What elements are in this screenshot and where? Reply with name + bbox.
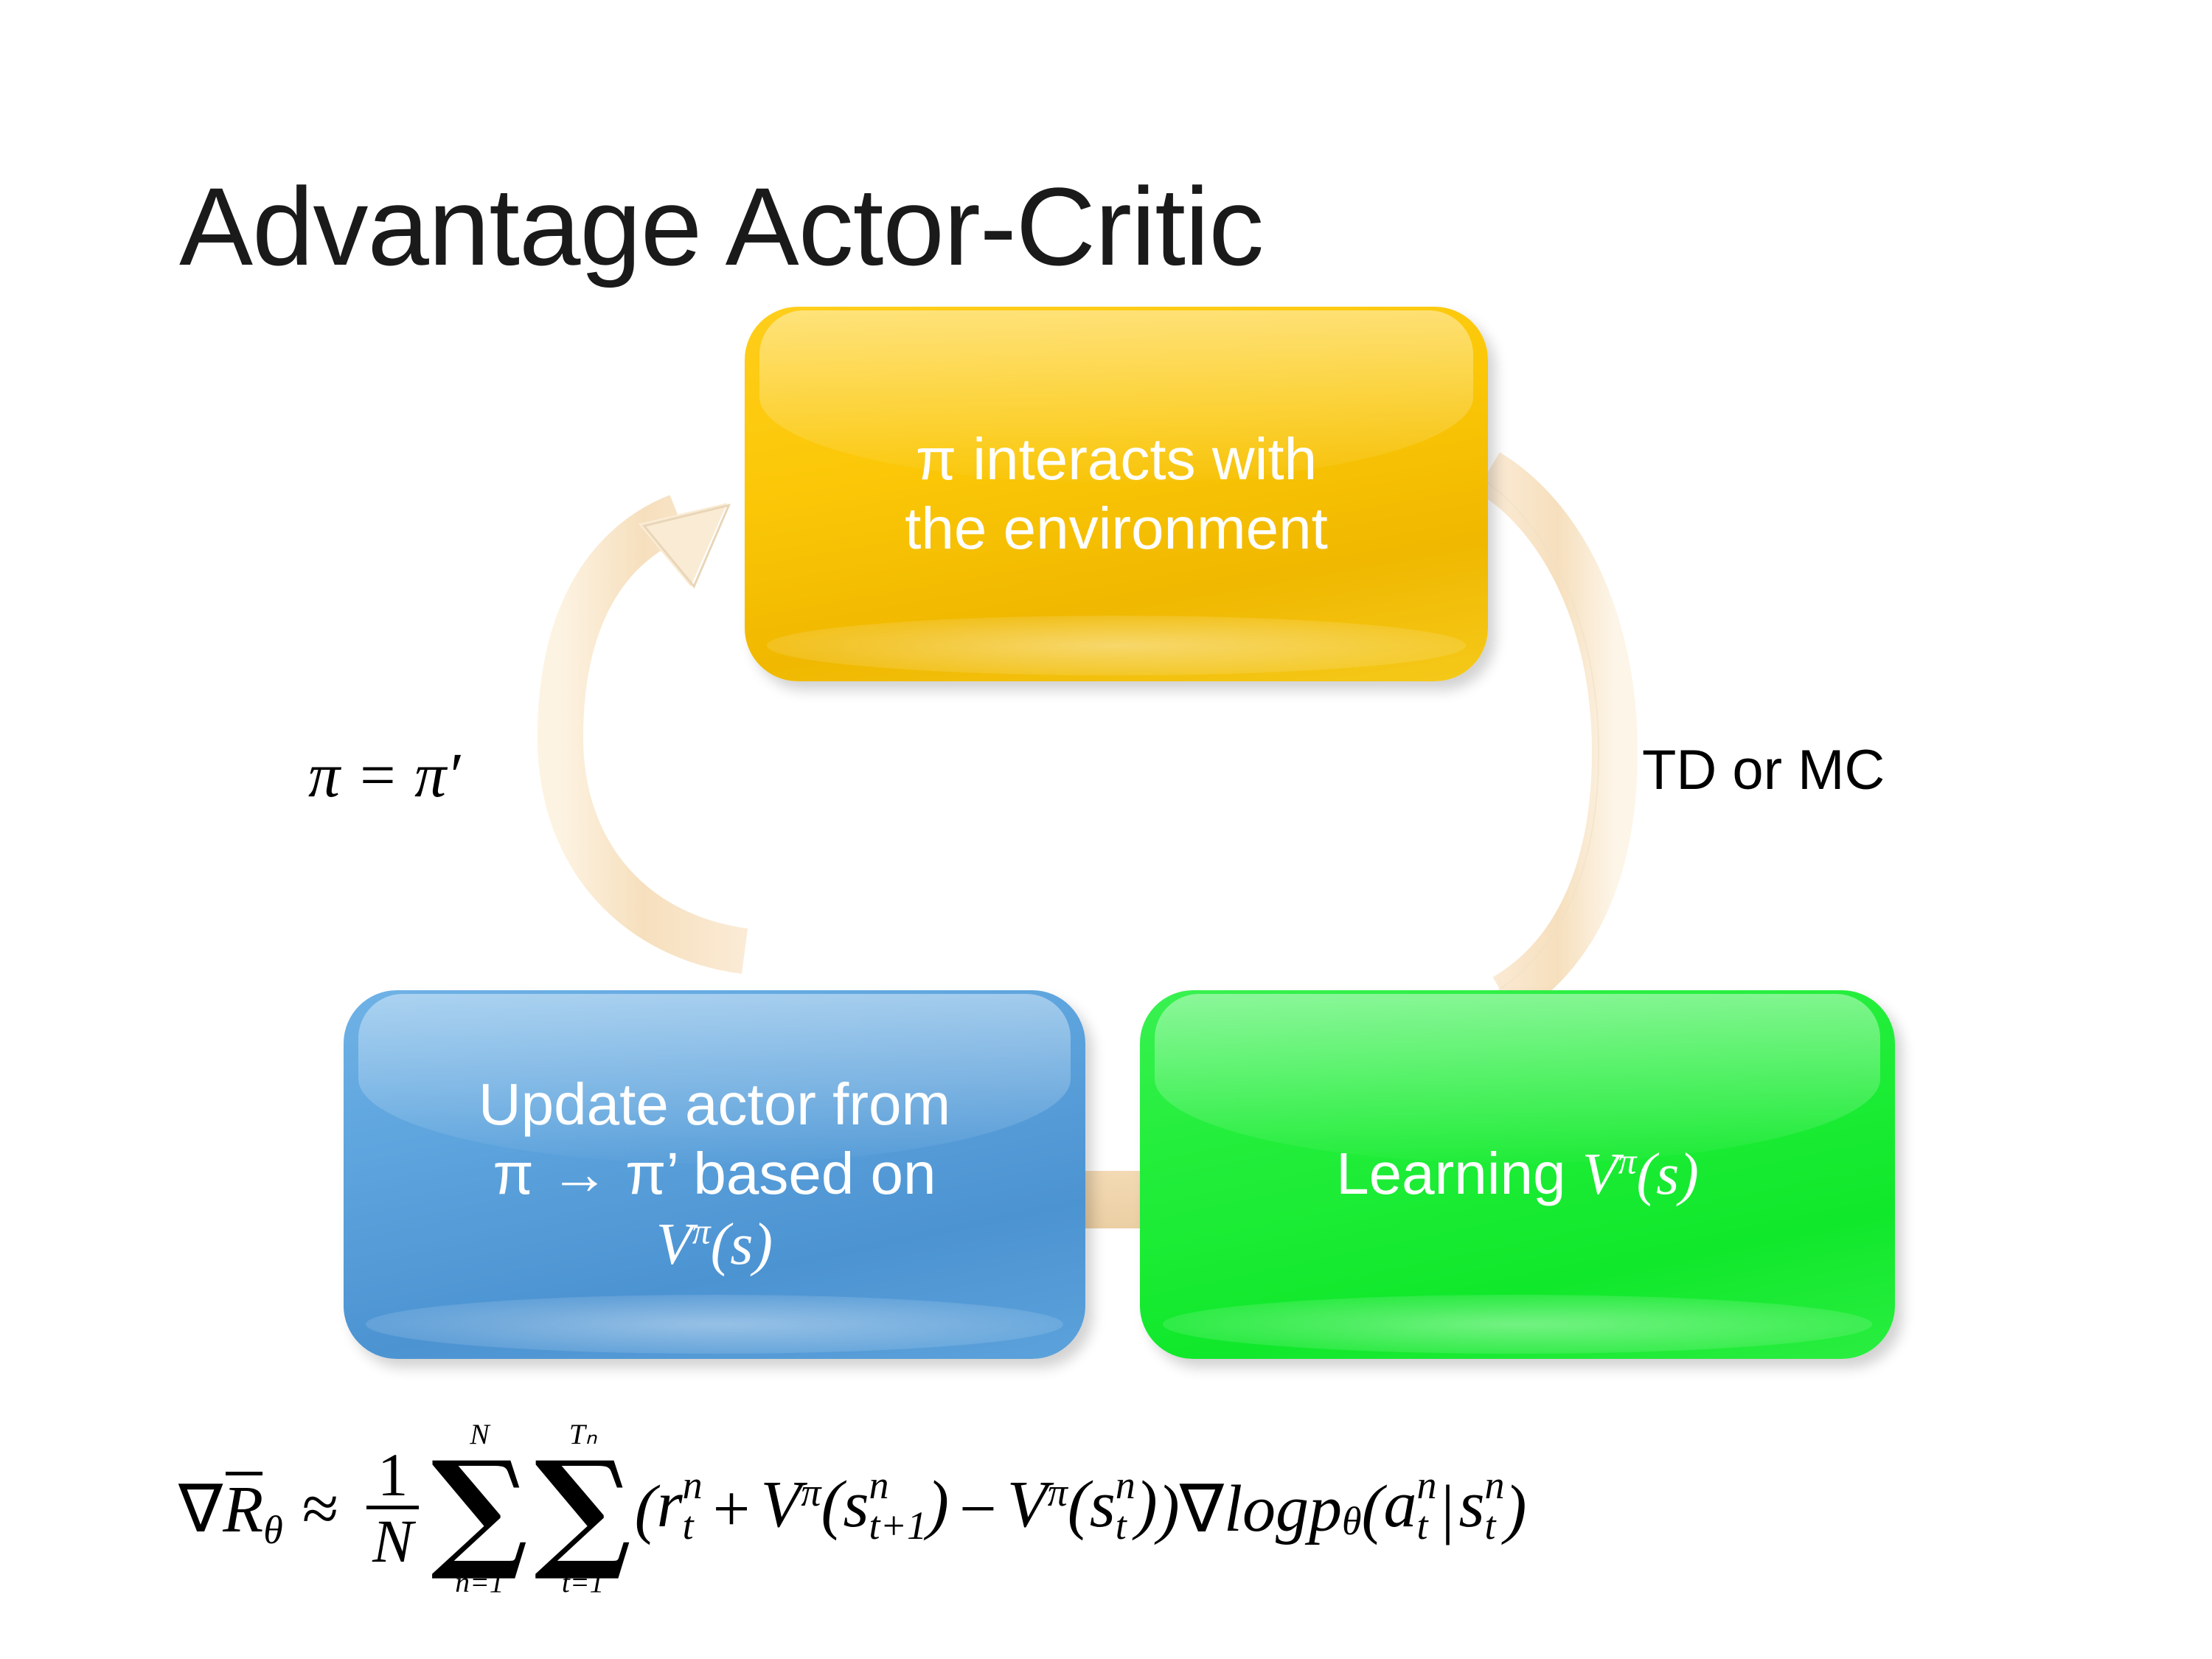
formula-lhs: ∇Rθ — [178, 1470, 283, 1548]
value-learning-arrow — [1472, 472, 1615, 997]
formula-close-paren: ) — [1158, 1471, 1180, 1547]
formula-v2-base: V — [1007, 1468, 1048, 1541]
formula-sum-over-timesteps: Tₙ ∑ t=1 — [535, 1420, 632, 1598]
formula-v2-close: ) — [1135, 1468, 1158, 1541]
formula-v1-state: s — [843, 1468, 869, 1541]
policy-gradient-formula: ∇Rθ ≈ 1 N N ∑ n=1 Tₙ ∑ t=1 ( r n t + Vπ(… — [178, 1420, 2066, 1598]
formula-cond-state-sup: n — [1485, 1465, 1505, 1506]
formula-v1-sup: π — [801, 1470, 821, 1514]
formula-action-term: a n t — [1383, 1467, 1436, 1551]
formula-minus: − — [959, 1471, 997, 1547]
formula-v2-sup: π — [1048, 1470, 1068, 1514]
formula-log: log — [1224, 1471, 1309, 1547]
critic-value-fn-base: V — [1582, 1142, 1618, 1207]
formula-action-indices: n t — [1416, 1465, 1436, 1546]
actor-line-1: Update actor from — [369, 1070, 1060, 1139]
formula-open-paren: ( — [635, 1471, 657, 1547]
td-or-mc-label: TD or MC — [1642, 738, 1885, 802]
formula-frac-num: 1 — [372, 1444, 414, 1506]
formula-reward-sub: t — [683, 1506, 703, 1546]
actor-update-box-text: Update actor from π → π’ based on Vπ(s) — [344, 1070, 1085, 1279]
formula-grad-symbol: ∇ — [1180, 1470, 1224, 1548]
policy-assignment-label: π = π′ — [308, 738, 460, 812]
formula-action-close: ) — [1505, 1471, 1527, 1547]
critic-learning-box[interactable]: Learning Vπ(s) — [1140, 990, 1895, 1359]
formula-sum1-symbol: ∑ — [431, 1450, 528, 1568]
formula-sum1-lower: n=1 — [455, 1568, 504, 1598]
formula-sum2-symbol: ∑ — [535, 1450, 632, 1568]
formula-v2-state-indices: n t — [1116, 1465, 1135, 1546]
actor-line-2: π → π’ based on — [369, 1139, 1060, 1208]
formula-v2-state-sup: n — [1116, 1465, 1135, 1506]
critic-to-actor-connector — [1082, 1171, 1144, 1228]
formula-reward-base: r — [657, 1468, 683, 1541]
environment-box-text: π interacts with the environment — [745, 425, 1488, 564]
environment-line-1: π interacts with — [770, 425, 1463, 494]
formula-cond-state-indices: n t — [1485, 1465, 1505, 1546]
formula-plus: + — [713, 1471, 751, 1547]
formula-v2-open: ( — [1068, 1468, 1090, 1541]
formula-v-next-term: Vπ(s n t+1 ) — [760, 1467, 949, 1551]
actor-value-fn-arg: (s) — [711, 1212, 773, 1277]
formula-v1-close: ) — [927, 1468, 949, 1541]
actor-value-fn-base: V — [656, 1212, 692, 1277]
formula-p-sub: θ — [1342, 1498, 1362, 1544]
formula-action-open: ( — [1362, 1471, 1384, 1547]
critic-learning-box-text: Learning Vπ(s) — [1140, 1139, 1895, 1209]
environment-line-2: the environment — [770, 494, 1463, 563]
page-title: Advantage Actor-Critic — [179, 171, 1263, 282]
formula-sum-over-episodes: N ∑ n=1 — [431, 1420, 528, 1598]
formula-p: p — [1309, 1471, 1342, 1547]
formula-approx: ≈ — [302, 1471, 338, 1547]
formula-action-sup: n — [1416, 1465, 1436, 1506]
formula-v1-state-sub: t+1 — [869, 1506, 927, 1546]
formula-cond-state-term: s n t — [1459, 1467, 1505, 1551]
formula-reward-sup: n — [683, 1465, 703, 1506]
formula-frac-den: N — [366, 1506, 419, 1573]
formula-v2-state-sub: t — [1116, 1506, 1135, 1546]
formula-sum2-lower: t=1 — [562, 1568, 605, 1598]
formula-cond-state-base: s — [1459, 1468, 1485, 1541]
formula-v1-state-indices: n t+1 — [869, 1465, 927, 1546]
critic-value-fn-sup: π — [1618, 1141, 1637, 1182]
formula-reward-term: r n t — [657, 1467, 703, 1551]
critic-label: Learning — [1336, 1141, 1565, 1206]
critic-line-1: Learning Vπ(s) — [1165, 1139, 1870, 1209]
actor-update-box[interactable]: Update actor from π → π’ based on Vπ(s) — [344, 990, 1085, 1359]
formula-v1-state-sup: n — [869, 1465, 927, 1506]
formula-v1-base: V — [760, 1468, 801, 1541]
formula-action-base: a — [1383, 1468, 1416, 1541]
environment-box[interactable]: π interacts with the environment — [745, 307, 1488, 681]
formula-one-over-n: 1 N — [366, 1444, 419, 1573]
formula-v-current-term: Vπ(s n t ) — [1007, 1467, 1158, 1551]
formula-v2-state: s — [1090, 1468, 1116, 1541]
actor-line-3: Vπ(s) — [369, 1209, 1060, 1279]
critic-value-fn-arg: (s) — [1636, 1142, 1698, 1207]
actor-value-fn-sup: π — [692, 1211, 711, 1251]
formula-action-sub: t — [1416, 1506, 1436, 1546]
formula-conditional-bar: | — [1441, 1471, 1454, 1547]
formula-v1-open: ( — [821, 1468, 843, 1541]
formula-cond-state-sub: t — [1485, 1506, 1505, 1546]
policy-update-arrow — [560, 497, 749, 951]
formula-reward-indices: n t — [683, 1465, 703, 1546]
